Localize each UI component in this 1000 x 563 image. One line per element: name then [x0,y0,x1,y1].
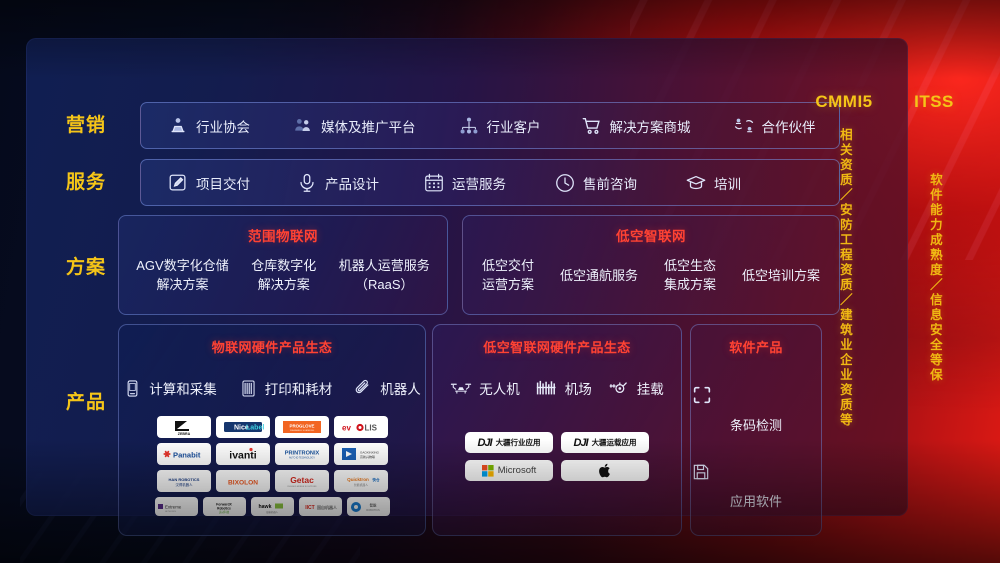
shopping-cart-icon [581,115,603,137]
graduation-cap-icon [685,172,707,194]
logo-bixolon[interactable]: BIXOLON [216,470,270,492]
brand-chip-grid: DJI 大疆行业应用 DJI 大疆运载应用 [433,432,681,481]
svg-text:ev: ev [342,424,351,433]
svg-text:Label: Label [246,425,264,432]
svg-text:ZEBRA: ZEBRA [177,432,190,436]
main-panel: 营销 行业协会 媒体及推广平台 [26,38,908,516]
svg-text:BIXOLON: BIXOLON [227,480,257,487]
svg-text:高新兴物联: 高新兴物联 [360,454,375,459]
product-box-iot-hardware: 物联网硬件产品生态 计算和采集 [118,324,426,536]
svg-text:PRINTRONIX: PRINTRONIX [284,451,319,457]
chip-dji-industry[interactable]: DJI 大疆行业应用 [465,432,553,453]
paperclip-robot-icon [354,379,373,398]
svg-text:国自机器人: 国自机器人 [317,504,337,510]
marketing-item-3[interactable]: 解决方案商城 [581,115,691,137]
logo-panabit[interactable]: Panabit [157,443,211,465]
certification-title: ITSS [898,92,970,112]
service-item-2[interactable]: 运营服务 [423,172,506,194]
podium-speaker-icon [167,115,189,137]
certification-column-cmmi5: CMMI5 相关资质／安防工程资质／建筑业企业资质等 [808,92,880,428]
people-group-icon [292,115,314,137]
svg-text:IICT: IICT [305,505,314,511]
logo-gs-gaoxinxing[interactable]: GAOXINXING 高新兴物联 [334,443,388,465]
product-category-label: 打印和耗材 [265,378,333,398]
software-item-application[interactable]: 应用软件 [691,462,821,510]
floppy-disk-icon [691,462,821,482]
product-category-label: 无人机 [479,378,520,398]
printer-icon [239,379,258,398]
logo-extreme-networks[interactable]: Extreme NETWORKS [155,497,198,516]
certification-vertical-text: 相关资质／安防工程资质／建筑业企业资质等 [837,128,851,428]
logo-hawk-robotics[interactable]: hawk 海康机器人 [251,497,294,516]
service-bar: 项目交付 产品设计 运营 [140,159,840,206]
brand-chip-row: DJI 大疆行业应用 DJI 大疆运载应用 [433,432,681,453]
logo-row: ZEBRA Nice Label PROGLOVE WEARABLE SCANN… [125,416,419,438]
product-category-robot[interactable]: 机器人 [354,378,421,398]
product-box-title-1: 低空智联网硬件产品生态 [433,337,681,356]
row-label-marketing: 营销 [66,116,126,135]
product-category-drone[interactable]: 无人机 [450,378,520,398]
svg-text:Robotics: Robotics [217,506,231,510]
service-item-label-2: 运营服务 [452,173,506,193]
svg-text:ivanti: ivanti [229,450,257,462]
service-item-label-3: 售前咨询 [583,173,637,193]
svg-text:Extreme: Extreme [165,504,182,509]
chip-apple[interactable] [561,460,649,481]
svg-text:WEARABLE SCANNING: WEARABLE SCANNING [289,429,314,432]
svg-text:LIS: LIS [364,424,377,433]
svg-text:Panabit: Panabit [173,451,201,460]
logo-printronix[interactable]: PRINTRONIX AUTO ID TECHNOLOGY [275,443,329,465]
product-category-printing[interactable]: 打印和耗材 [239,378,333,398]
logo-forwardx-robotics[interactable]: ForwardX Robotics 灵动科技 [203,497,246,516]
clock-icon [554,172,576,194]
logo-nicelabel[interactable]: Nice Label [216,416,270,438]
service-item-4[interactable]: 培训 [685,172,741,194]
service-item-3[interactable]: 售前咨询 [554,172,637,194]
product-box-title-2: 软件产品 [691,337,821,356]
solution-item[interactable]: AGV数字化仓储 解决方案 [136,257,228,295]
service-item-1[interactable]: 产品设计 [296,172,379,194]
svg-text:RUGGED MOBILE SOLUTIONS: RUGGED MOBILE SOLUTIONS [287,486,317,488]
product-category-label: 机器人 [380,378,421,398]
logo-row: Extreme NETWORKS ForwardX Robotics 灵动科技 … [125,497,419,516]
marketing-item-label-1: 媒体及推广平台 [321,116,416,136]
logo-quicktron[interactable]: Quicktron 快仓 智能机器人 [334,470,388,492]
logo-zebra[interactable]: ZEBRA [157,416,211,438]
chip-label: 大疆运载应用 [592,437,637,448]
partner-logo-grid: ZEBRA Nice Label PROGLOVE WEARABLE SCANN… [119,416,425,516]
logo-row: Panabit ivanti PRINTRONIX AUTO ID TECHNO… [125,443,419,465]
solution-item[interactable]: 低空交付 运营方案 [482,257,534,295]
solution-box-title-0: 范围物联网 [119,225,447,245]
software-item-barcode[interactable]: 条码检测 [691,384,821,434]
product-box-title-0: 物联网硬件产品生态 [119,337,425,356]
certification-vertical-text: 软件能力成熟度／信息安全等保 [927,128,941,428]
svg-text:GAOXINXING: GAOXINXING [360,451,380,455]
svg-text:hawk: hawk [259,504,272,510]
microphone-icon [296,172,318,194]
chip-microsoft[interactable]: Microsoft [465,460,553,481]
apple-logo [599,463,612,478]
payload-icon [608,379,630,398]
pen-note-icon [167,172,189,194]
dji-logo: DJI [573,437,587,449]
product-category-airport[interactable]: 机场 [536,378,592,398]
marketing-item-label-3: 解决方案商城 [610,116,691,136]
logo-ivanti[interactable]: ivanti [216,443,270,465]
dji-logo: DJI [477,437,491,449]
product-box-lowaltitude-hardware: 低空智联网硬件产品生态 无人机 [432,324,682,536]
logo-evolis[interactable]: ev LIS [334,416,388,438]
certification-title: CMMI5 [808,92,880,112]
brand-chip-row: Microsoft [433,460,681,481]
row-label-product: 产品 [66,393,126,412]
svg-text:智能: 智能 [370,502,377,507]
microsoft-logo [482,465,494,477]
marketing-item-2[interactable]: 行业客户 [458,115,541,137]
logo-zhineng-robot[interactable]: 智能 ROBOTICS [347,497,390,516]
marketing-item-1[interactable]: 媒体及推广平台 [292,115,416,137]
logo-getac[interactable]: Getac RUGGED MOBILE SOLUTIONS [275,470,329,492]
logo-iict[interactable]: IICT 国自机器人 [299,497,342,516]
chip-dji-delivery[interactable]: DJI 大疆运载应用 [561,432,649,453]
marketing-item-label-0: 行业协会 [196,116,250,136]
org-chart-icon [458,115,480,137]
solution-item[interactable]: 仓库数字化 解决方案 [251,257,316,295]
svg-text:智能机器人: 智能机器人 [354,483,368,487]
solution-item[interactable]: 低空通航服务 [560,267,638,286]
airport-icon [536,379,558,398]
row-label-solution: 方案 [66,258,126,277]
svg-text:汉得机器人: 汉得机器人 [175,482,193,487]
svg-text:灵动科技: 灵动科技 [219,510,230,514]
chip-label: Microsoft [498,465,537,476]
svg-text:快仓: 快仓 [372,477,380,482]
svg-text:ROBOTICS: ROBOTICS [366,508,380,512]
service-item-label-4: 培训 [714,173,741,193]
logo-row: HAN ROBOTICS 汉得机器人 BIXOLON Getac RUGGED … [125,470,419,492]
handshake-partner-icon [733,115,755,137]
service-item-0[interactable]: 项目交付 [167,172,250,194]
barcode-scan-frame-icon [691,384,821,406]
marketing-item-label-2: 行业客户 [487,116,541,136]
product-box-software: 软件产品 条码检测 应用软件 [690,324,822,536]
drone-icon [450,379,472,398]
software-item-label: 应用软件 [691,491,821,510]
svg-text:Quicktron: Quicktron [347,477,369,482]
service-item-label-0: 项目交付 [196,173,250,193]
marketing-bar: 行业协会 媒体及推广平台 行业客户 [140,102,840,149]
marketing-item-0[interactable]: 行业协会 [167,115,250,137]
handheld-terminal-icon [123,379,142,398]
product-category-label: 挂载 [637,378,664,398]
solution-item[interactable]: 低空生态 集成方案 [664,257,716,295]
row-label-service: 服务 [66,173,126,192]
product-category-label: 计算和采集 [149,378,217,398]
svg-text:HAN ROBOTICS: HAN ROBOTICS [168,477,199,482]
product-category-label: 机场 [565,378,592,398]
chip-label: 大疆行业应用 [496,437,541,448]
solution-box-iot: 范围物联网 AGV数字化仓储 解决方案 仓库数字化 解决方案 机器人运营服务 （… [118,215,448,315]
solution-item[interactable]: 机器人运营服务 （RaaS） [339,257,430,295]
product-category-payload[interactable]: 挂载 [608,378,664,398]
marketing-item-4[interactable]: 合作伙伴 [733,115,816,137]
software-item-label: 条码检测 [691,415,821,434]
svg-text:PROGLOVE: PROGLOVE [289,424,314,429]
product-category-compute[interactable]: 计算和采集 [123,378,217,398]
logo-proglove[interactable]: PROGLOVE WEARABLE SCANNING [275,416,329,438]
solution-box-lowaltitude: 低空智联网 低空交付 运营方案 低空通航服务 低空生态 集成方案 低空培训方案 [462,215,840,315]
svg-text:AUTO ID TECHNOLOGY: AUTO ID TECHNOLOGY [289,457,315,460]
certification-column-itss: ITSS 软件能力成熟度／信息安全等保 [898,92,970,428]
svg-text:Getac: Getac [290,475,314,485]
logo-han-robotics[interactable]: HAN ROBOTICS 汉得机器人 [157,470,211,492]
calendar-icon [423,172,445,194]
svg-text:海康机器人: 海康机器人 [266,510,279,514]
svg-text:NETWORKS: NETWORKS [165,511,177,513]
solution-box-title-1: 低空智联网 [463,225,839,245]
service-item-label-1: 产品设计 [325,173,379,193]
